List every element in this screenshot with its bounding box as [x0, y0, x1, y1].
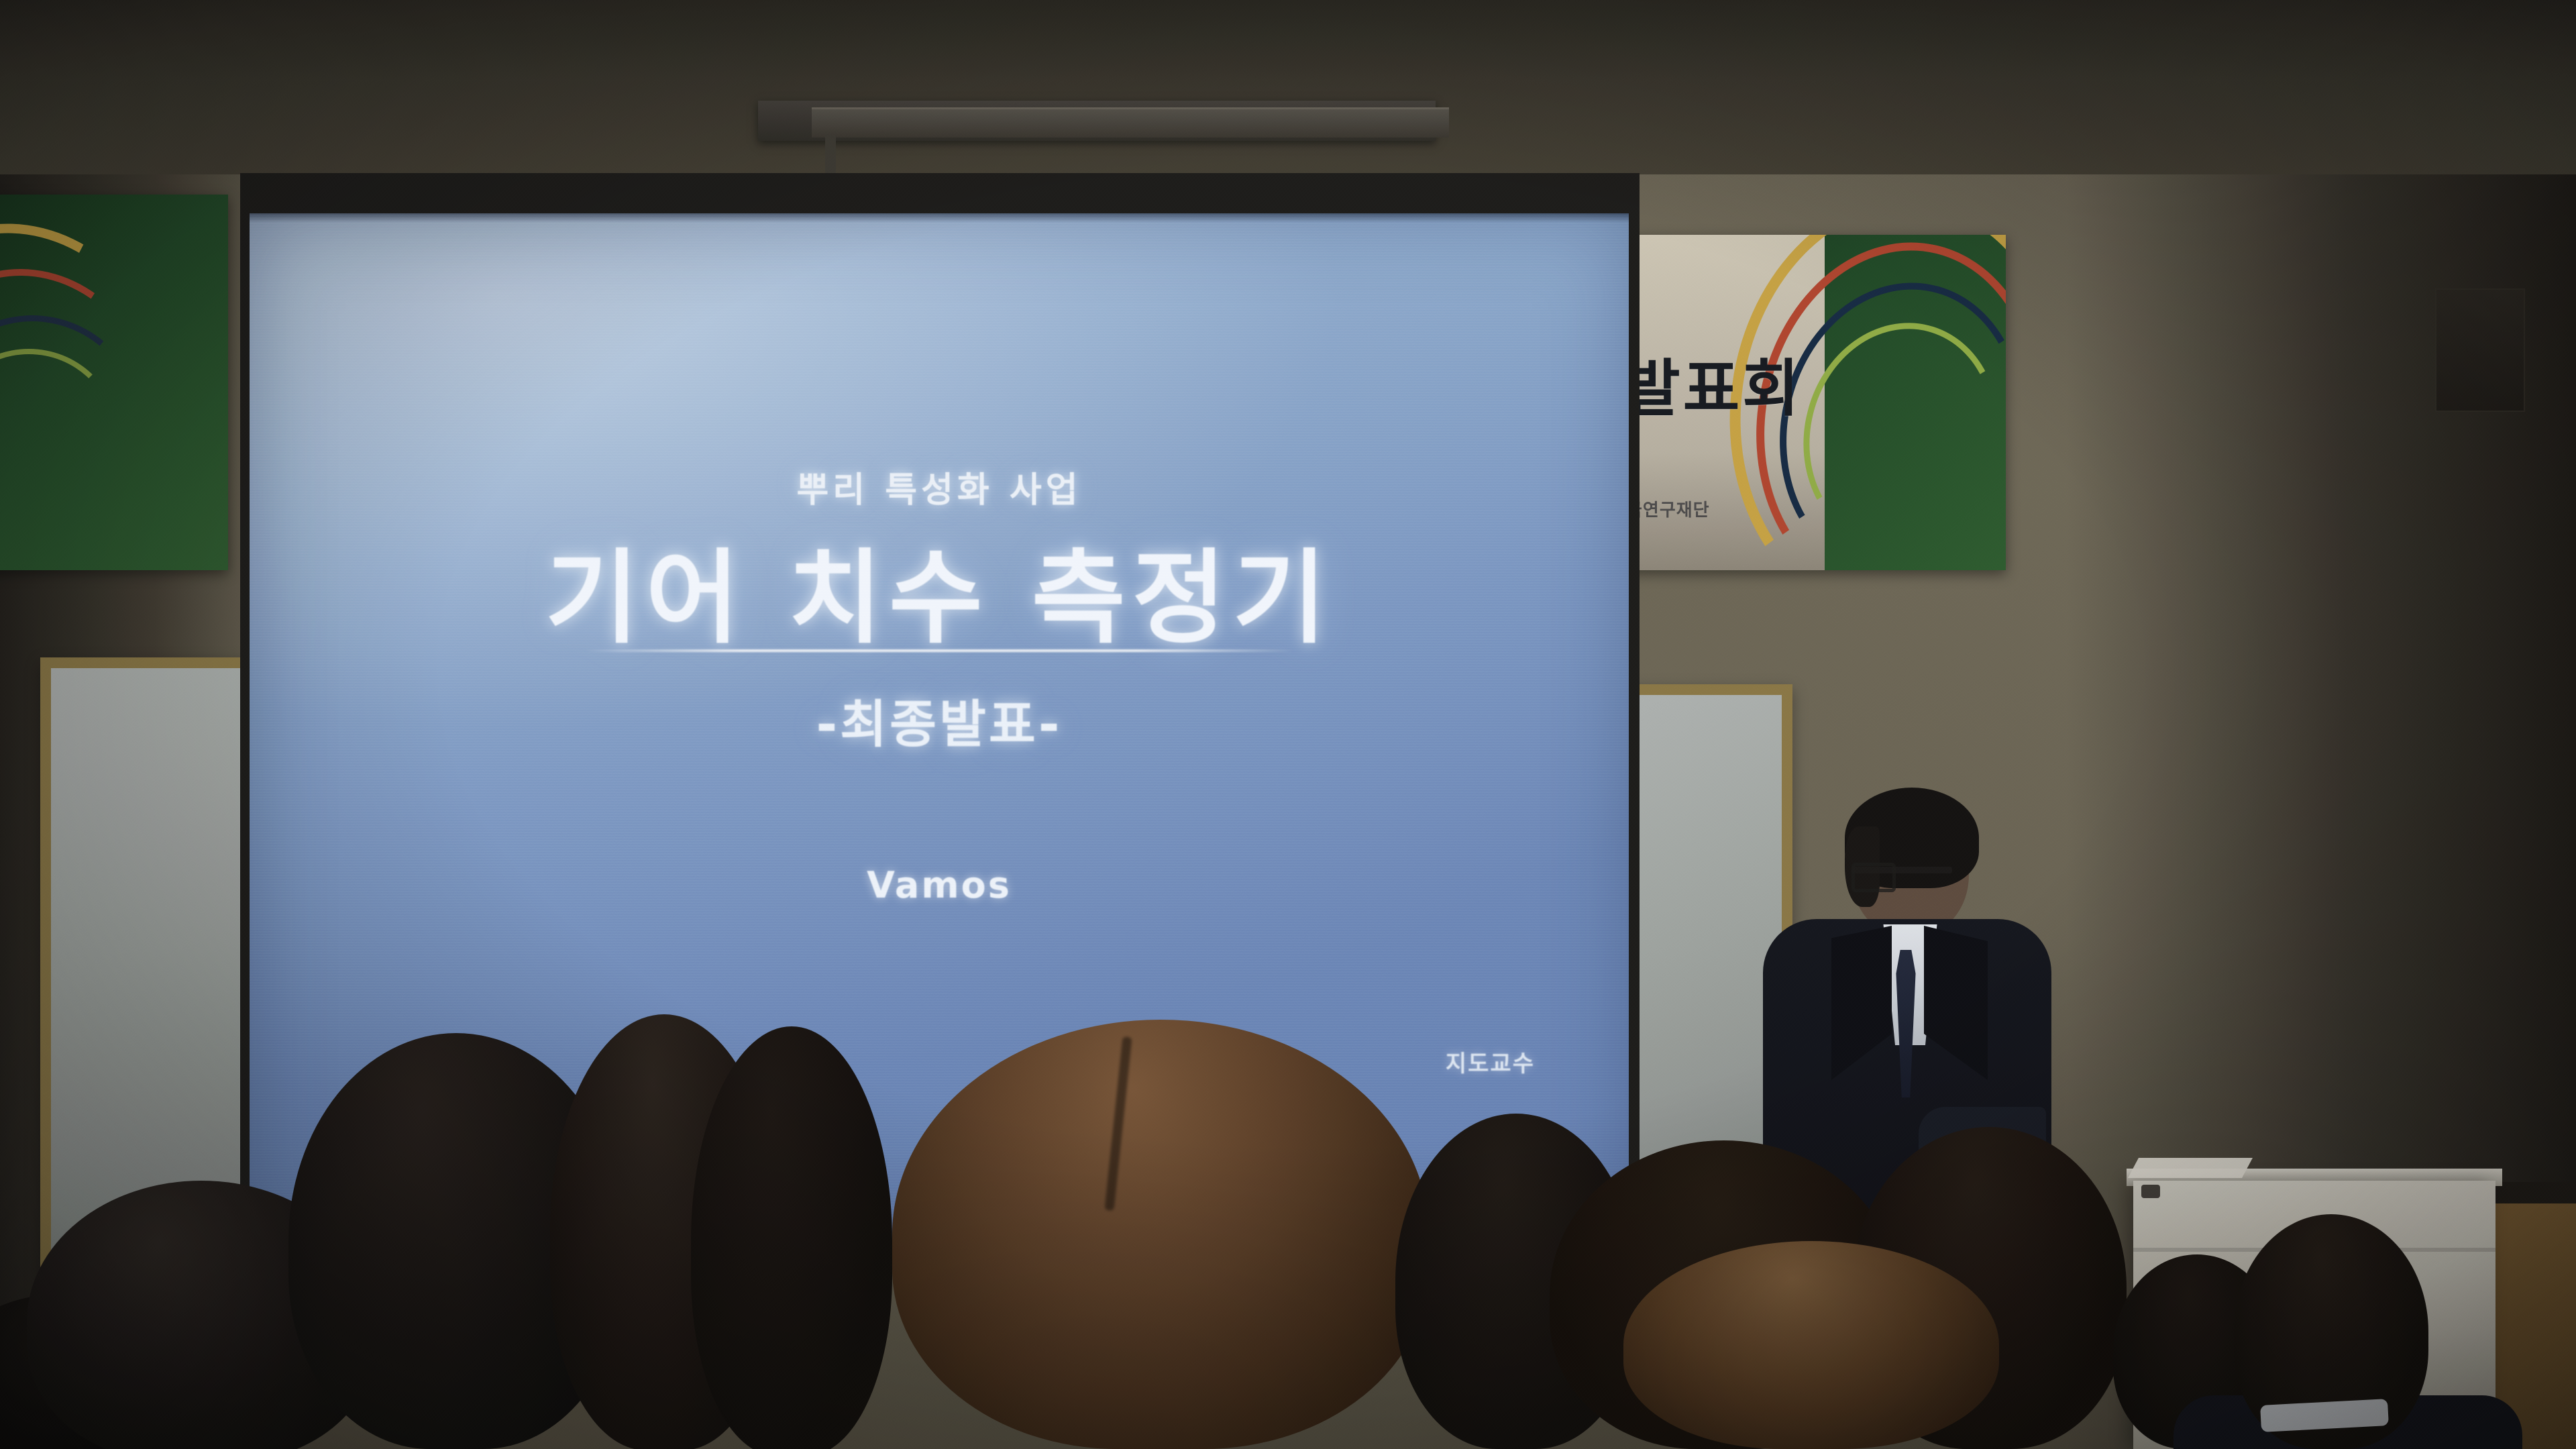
slide-title-rule — [584, 649, 1295, 652]
slide-subtitle: 뿌리 특성화 사업 — [250, 462, 1629, 512]
audience-head — [892, 1020, 1429, 1449]
slide-team-name: Vamos — [250, 864, 1629, 906]
audience-head — [1623, 1241, 1999, 1449]
audience-head — [691, 1026, 892, 1449]
podium-control-knob — [2141, 1185, 2160, 1198]
presentation-photo: 발표회 국연구재단 뿌리 특성화 사업 기어 치수 측정기 -최종발표- Vam… — [0, 0, 2576, 1449]
slide-credit-line-1: 지도교수 — [1446, 1045, 1535, 1078]
wall-vent-panel — [2435, 288, 2525, 412]
slide-kicker: -최종발표- — [250, 683, 1629, 757]
slide-title: 기어 치수 측정기 — [250, 515, 1629, 663]
microphone-icon — [2128, 1158, 2253, 1178]
screen-top-shadow — [250, 213, 1629, 223]
recessed-light-fixture-icon — [812, 107, 1449, 138]
banner-right: 발표회 국연구재단 — [1603, 235, 2006, 570]
banner-title: 발표회 — [1623, 339, 1802, 428]
glasses-bridge — [1851, 867, 1952, 873]
banner-left — [0, 195, 228, 570]
